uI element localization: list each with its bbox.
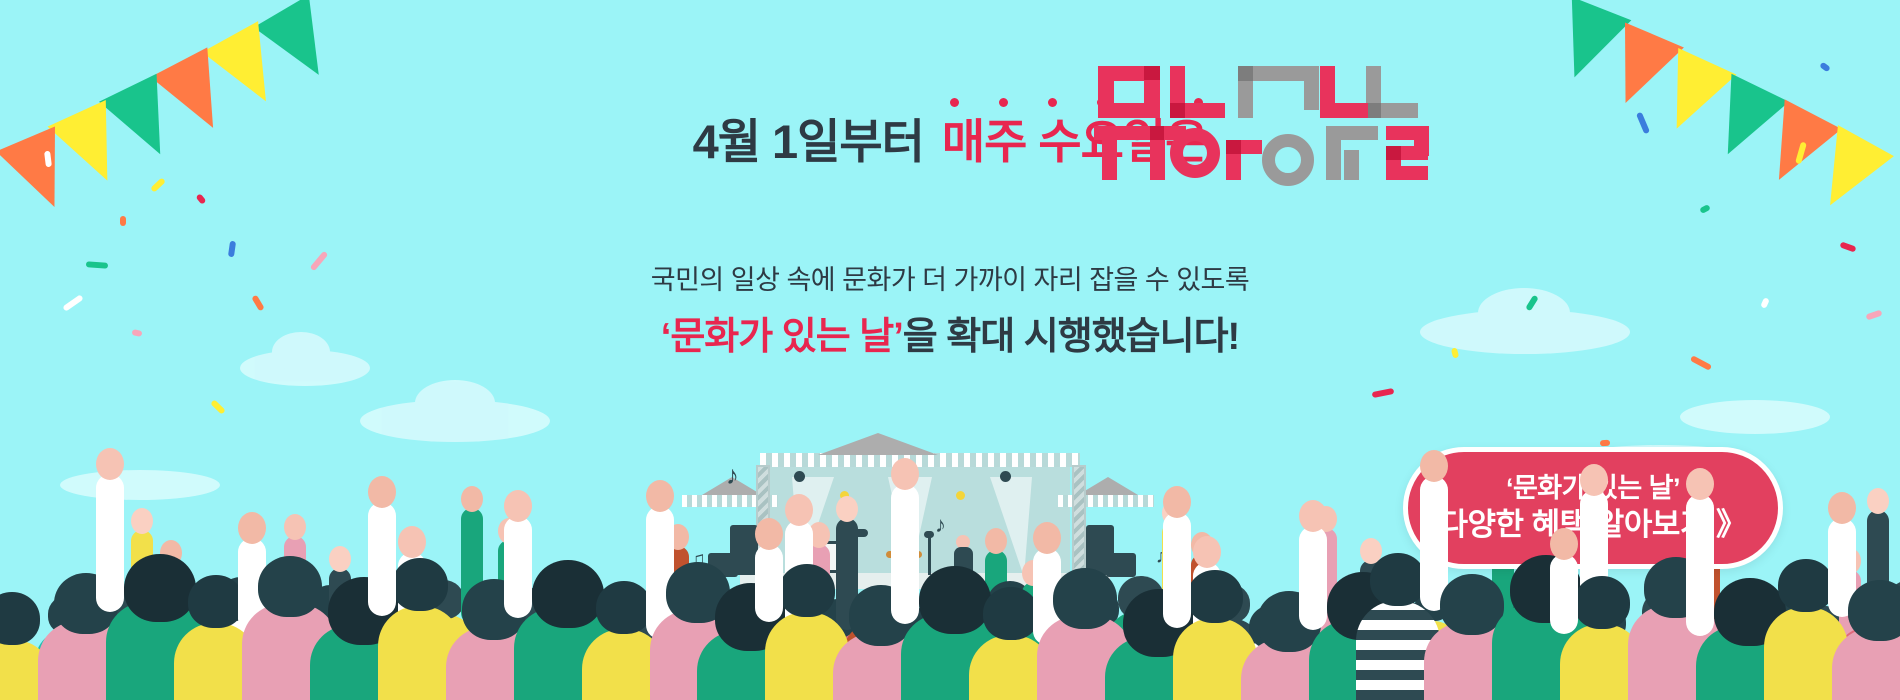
raised-hand bbox=[398, 526, 426, 558]
person-head bbox=[596, 581, 651, 634]
raised-hand bbox=[785, 494, 813, 526]
raised-arm bbox=[755, 544, 783, 622]
cloud-icon bbox=[1680, 400, 1830, 434]
headline: 4월 1일부터 매주 수요일은 bbox=[0, 118, 1900, 165]
raised-arm bbox=[1686, 494, 1714, 636]
confetti-piece bbox=[1600, 440, 1610, 447]
confetti-piece bbox=[1372, 388, 1395, 398]
raised-hand bbox=[1033, 522, 1061, 554]
raised-arm bbox=[1550, 554, 1578, 634]
raised-hand bbox=[1686, 468, 1714, 500]
raised-hand bbox=[646, 480, 674, 512]
person-head bbox=[0, 592, 40, 645]
raised-hand bbox=[284, 514, 306, 540]
person-head bbox=[983, 587, 1038, 640]
raised-arm bbox=[368, 502, 396, 616]
subtitle-line-1: 국민의 일상 속에 문화가 더 가까이 자리 잡을 수 있도록 bbox=[0, 258, 1900, 297]
munhwa-inneun-nal-logo bbox=[1098, 58, 1428, 180]
raised-arm bbox=[504, 516, 532, 618]
raised-arm bbox=[891, 484, 919, 624]
raised-hand bbox=[836, 496, 858, 522]
subtitle-line-2: ‘문화가 있는 날’을 확대 시행했습니다! bbox=[0, 305, 1900, 360]
raised-arm bbox=[1163, 512, 1191, 628]
person-head bbox=[1370, 553, 1425, 606]
raised-hand bbox=[131, 508, 153, 534]
raised-hand bbox=[1828, 492, 1856, 524]
raised-hand bbox=[1299, 500, 1327, 532]
person-head bbox=[779, 564, 834, 617]
headline-date-part: 4월 1일부터 bbox=[693, 118, 924, 165]
raised-hand bbox=[985, 528, 1007, 554]
raised-arm bbox=[96, 474, 124, 612]
raised-hand bbox=[504, 490, 532, 522]
confetti-piece bbox=[120, 216, 126, 226]
person-head bbox=[1778, 559, 1833, 612]
raised-hand bbox=[1867, 488, 1889, 514]
raised-hand bbox=[96, 448, 124, 480]
confetti-piece bbox=[150, 177, 166, 192]
promo-banner: 4월 1일부터 매주 수요일은 bbox=[0, 0, 1900, 700]
raised-hand bbox=[461, 486, 483, 512]
subtitle-highlight: ‘문화가 있는 날’ bbox=[661, 316, 903, 358]
person-head bbox=[1574, 576, 1629, 629]
confetti-piece bbox=[1839, 241, 1856, 252]
confetti-piece bbox=[210, 399, 226, 414]
raised-hand bbox=[755, 518, 783, 550]
person-head bbox=[1187, 570, 1242, 623]
confetti-piece bbox=[1819, 62, 1831, 73]
raised-hand bbox=[1550, 528, 1578, 560]
raised-hand bbox=[1193, 536, 1221, 568]
person-head bbox=[392, 558, 447, 611]
subtitle-rest: 을 확대 시행했습니다! bbox=[903, 316, 1239, 358]
confetti-piece bbox=[228, 241, 236, 258]
confetti-piece bbox=[1699, 204, 1711, 214]
confetti-piece bbox=[196, 193, 207, 205]
raised-hand bbox=[368, 476, 396, 508]
raised-hand bbox=[1163, 486, 1191, 518]
crowd-person bbox=[1832, 580, 1900, 700]
raised-arm bbox=[1299, 526, 1327, 630]
raised-hand bbox=[1580, 464, 1608, 496]
person-head bbox=[1848, 580, 1900, 641]
person-head bbox=[188, 575, 243, 628]
raised-hand bbox=[1420, 450, 1448, 482]
raised-hand bbox=[891, 458, 919, 490]
raised-hand bbox=[238, 512, 266, 544]
cloud-icon bbox=[360, 400, 550, 442]
